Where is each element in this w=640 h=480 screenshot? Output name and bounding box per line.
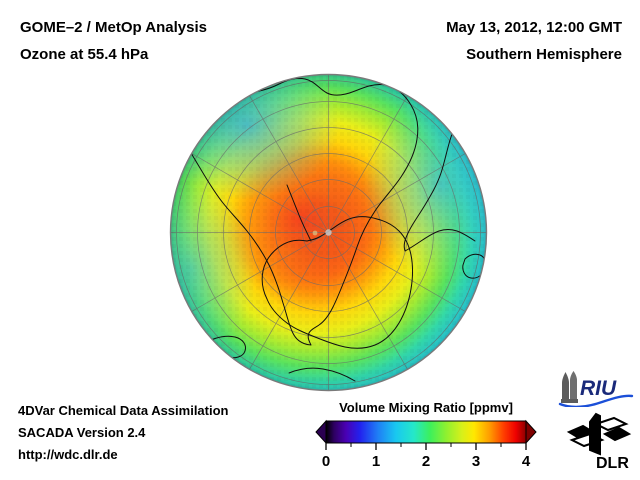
method-label: 4DVar Chemical Data Assimilation [18, 400, 229, 422]
colorbar: Volume Mixing Ratio [ppmv] [312, 400, 540, 470]
colorbar-tick-label-3: 3 [472, 453, 480, 470]
header-right: May 13, 2012, 12:00 GMT Southern Hemisph… [446, 14, 622, 68]
colorbar-gradient [326, 421, 526, 443]
colorbar-tick-label-0: 0 [322, 453, 330, 470]
riu-towers-icon [561, 371, 578, 403]
colorbar-tick-label-4: 4 [522, 453, 531, 470]
timestamp-label: May 13, 2012, 12:00 GMT [446, 14, 622, 41]
footer-credits: 4DVar Chemical Data Assimilation SACADA … [18, 400, 229, 466]
dlr-wordmark: DLR [596, 455, 629, 472]
colorbar-extend-high-arrow [526, 421, 536, 443]
source-url-label[interactable]: http://wdc.dlr.de [18, 444, 229, 466]
dlr-logo: DLR [566, 412, 632, 474]
globe-map [169, 73, 488, 392]
instrument-title: GOME–2 / MetOp Analysis [20, 14, 207, 41]
colorbar-major-ticks [326, 443, 526, 450]
hemisphere-label: Southern Hemisphere [446, 41, 622, 68]
variable-level-subtitle: Ozone at 55.4 hPa [20, 41, 207, 68]
dlr-mark-icon [569, 414, 629, 454]
riu-wordmark: RIU [580, 377, 617, 400]
colorbar-tick-label-1: 1 [372, 453, 380, 470]
riu-logo: RIU [558, 371, 634, 407]
version-label: SACADA Version 2.4 [18, 422, 229, 444]
colorbar-extend-low-arrow [316, 421, 326, 443]
header-left: GOME–2 / MetOp Analysis Ozone at 55.4 hP… [20, 14, 207, 68]
colorbar-title: Volume Mixing Ratio [ppmv] [312, 400, 540, 415]
colorbar-tick-label-2: 2 [422, 453, 430, 470]
